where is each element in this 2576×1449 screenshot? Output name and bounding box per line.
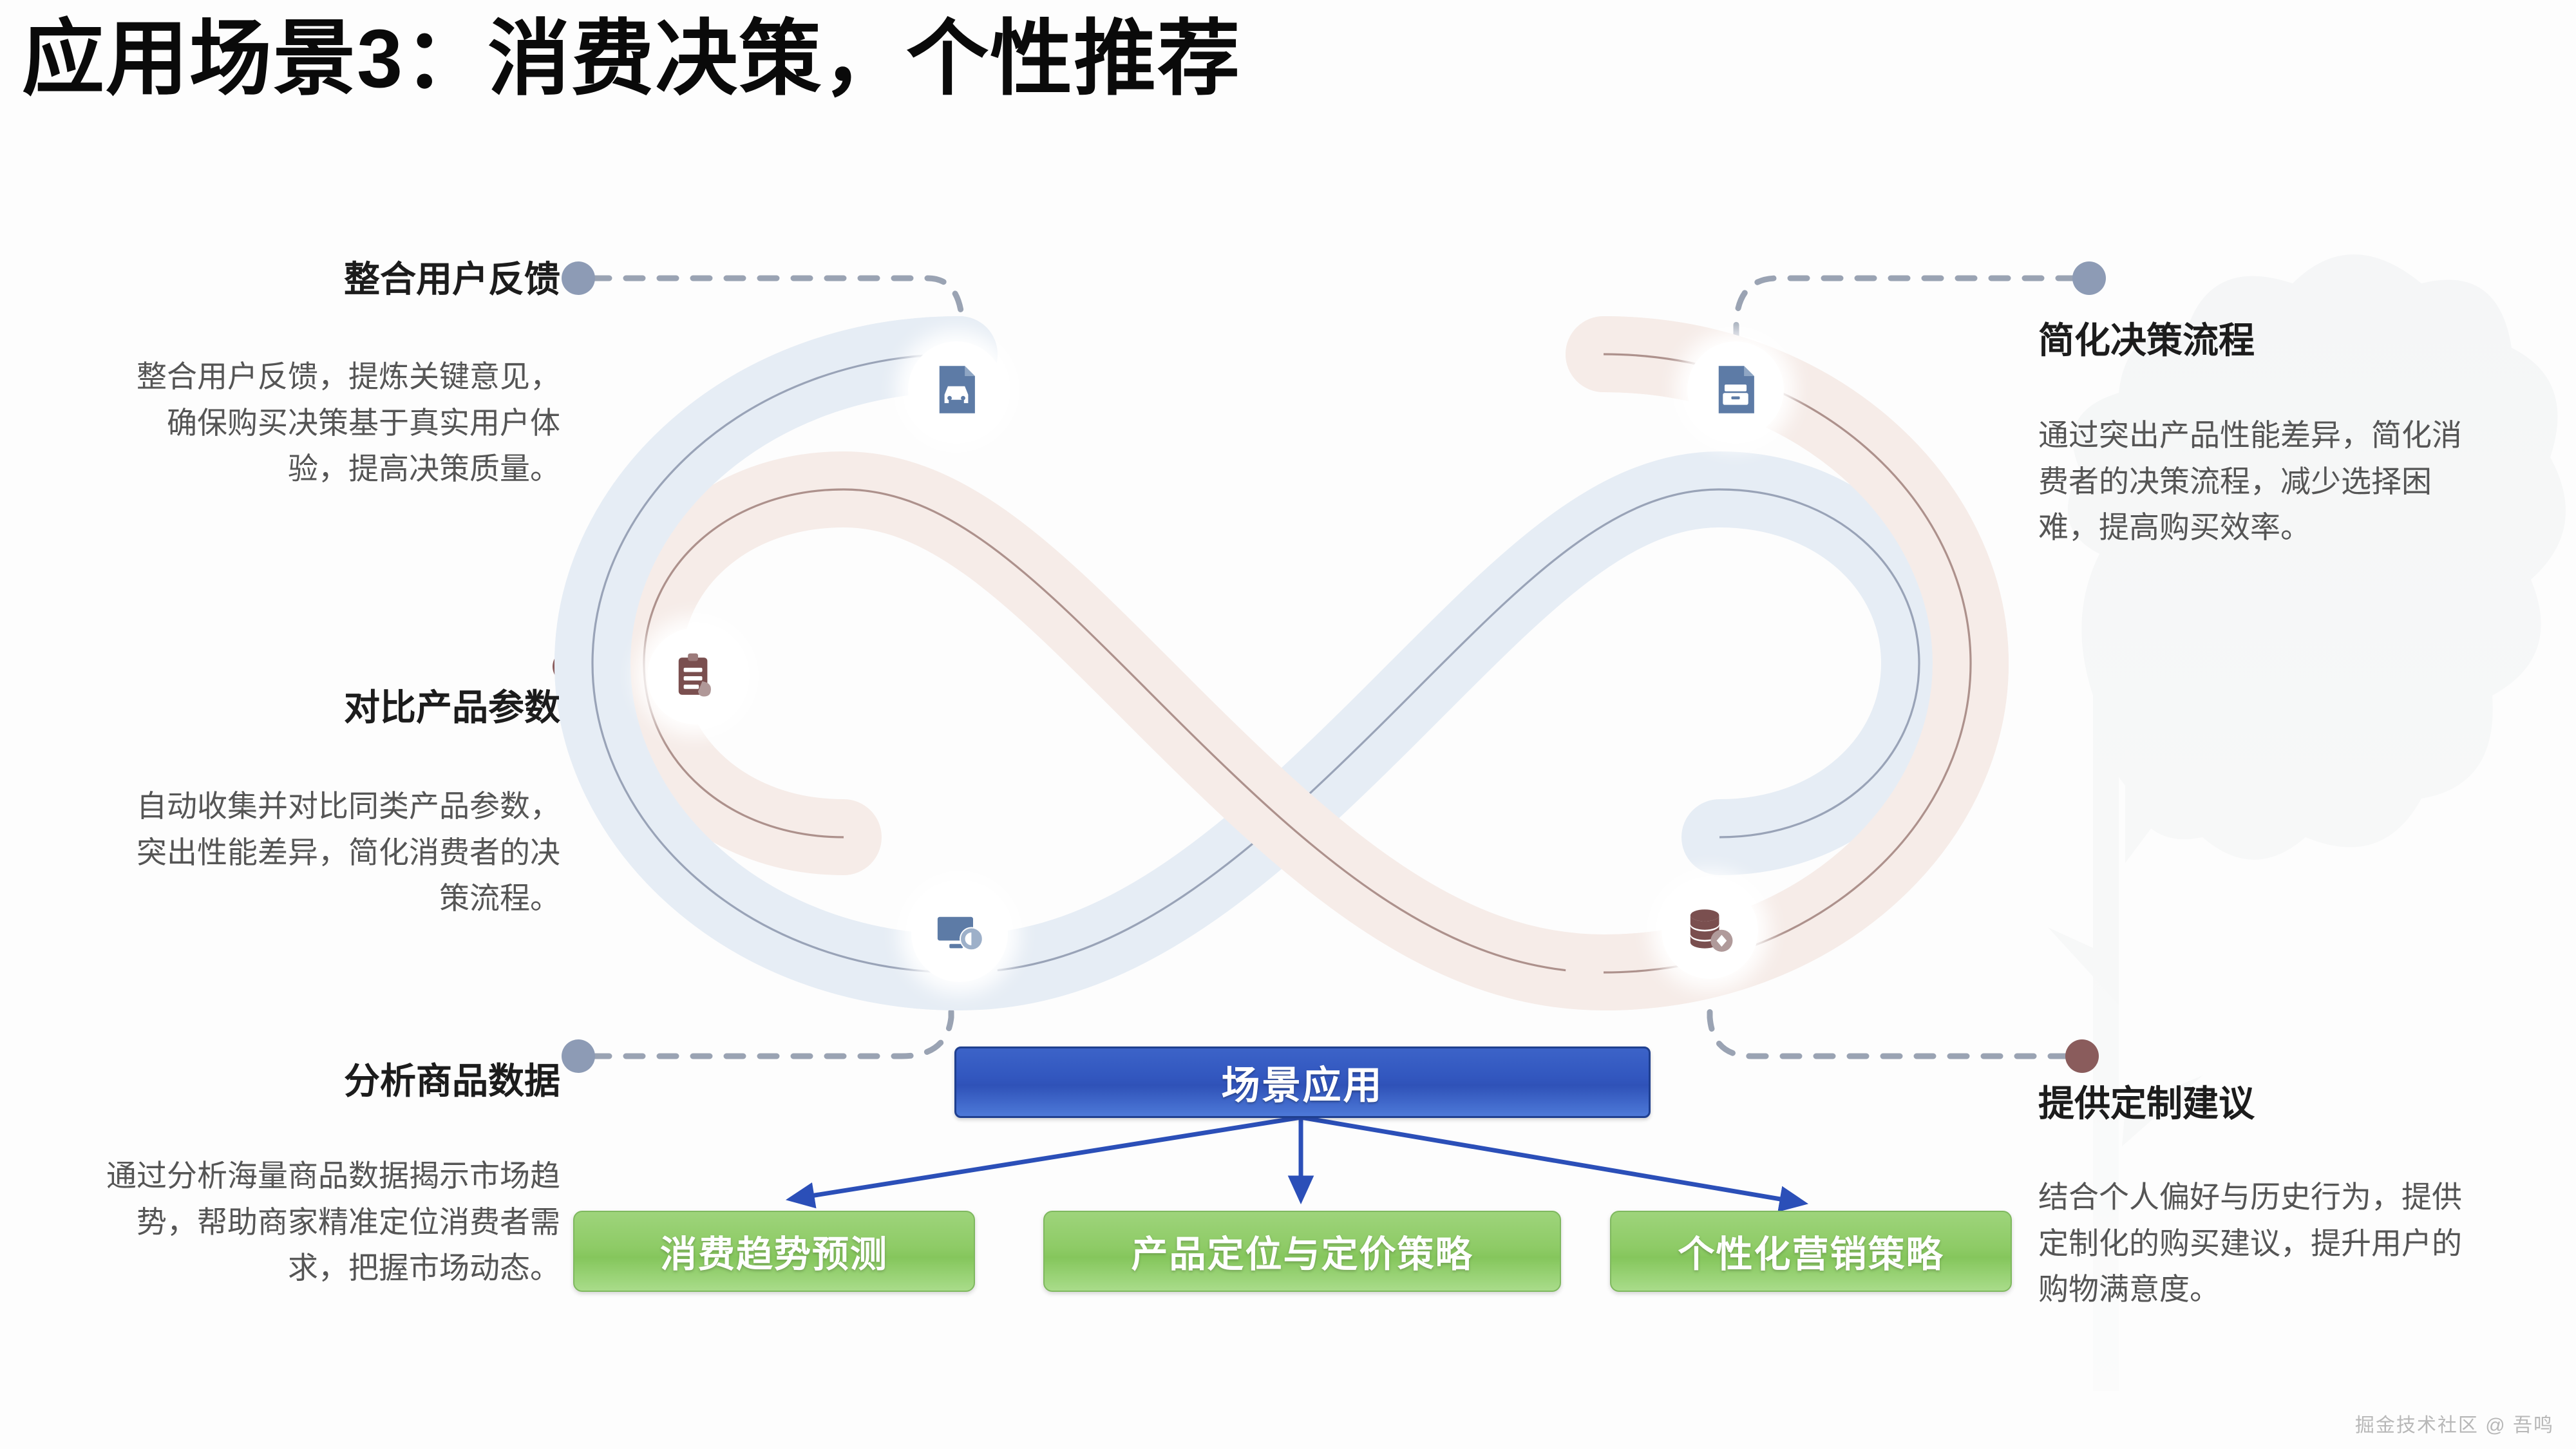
watermark-text: 掘金技术社区 @ 吾鸣 (2355, 1409, 2554, 1437)
info-heading-compare: 对比产品参数 (109, 686, 560, 729)
flow-box-label: 个性化营销策略 (1678, 1225, 1944, 1278)
scenario-root-label: 场景应用 (1222, 1054, 1384, 1110)
scenario-root-box[interactable]: 场景应用 (954, 1046, 1651, 1118)
flow-box-product-pricing[interactable]: 产品定位与定价策略 (1043, 1211, 1561, 1292)
car-document-icon-badge[interactable] (908, 341, 1005, 438)
ribbon-pink (644, 354, 1971, 972)
connector-dot-simplify (2072, 261, 2106, 295)
archive-document-icon-badge[interactable] (1687, 341, 1784, 438)
page-title: 应用场景3：消费决策，个性推荐 (22, 8, 1241, 111)
monitor-chart-icon (933, 907, 987, 961)
info-heading-simplify: 简化决策流程 (2038, 319, 2463, 362)
info-block-feedback: 整合用户反馈 整合用户反馈，提炼关键意见，确保购买决策基于真实用户体验，提高决策… (109, 258, 560, 492)
archive-document-icon (1709, 363, 1763, 417)
info-block-advice: 提供定制建议 结合个人偏好与历史行为，提供定制化的购买建议，提升用户的购物满意度… (2038, 1082, 2463, 1312)
info-block-analyze: 分析商品数据 通过分析海量商品数据揭示市场趋势，帮助商家精准定位消费者需求，把握… (97, 1059, 560, 1291)
info-block-compare: 对比产品参数 自动收集并对比同类产品参数，突出性能差异，简化消费者的决策流程。 (109, 686, 560, 922)
clipboard-list-icon-badge[interactable] (647, 628, 744, 724)
ribbon-blue (592, 354, 1919, 972)
flow-box-trend-forecast[interactable]: 消费趋势预测 (573, 1211, 975, 1292)
info-heading-feedback: 整合用户反馈 (109, 258, 560, 301)
database-stack-icon (1683, 904, 1737, 958)
database-stack-icon-badge[interactable] (1662, 882, 1758, 979)
monitor-chart-icon-badge[interactable] (911, 885, 1008, 982)
info-block-simplify: 简化决策流程 通过突出产品性能差异，简化消费者的决策流程，减少选择困难，提高购买… (2038, 319, 2463, 551)
infinity-loop-diagram (554, 258, 2009, 1069)
info-body-analyze: 通过分析海量商品数据揭示市场趋势，帮助商家精准定位消费者需求，把握市场动态。 (97, 1153, 560, 1291)
car-document-icon (929, 363, 983, 417)
connector-dot-advice (2065, 1039, 2099, 1073)
flow-box-personalized-marketing[interactable]: 个性化营销策略 (1610, 1211, 2012, 1292)
info-body-compare: 自动收集并对比同类产品参数，突出性能差异，简化消费者的决策流程。 (109, 783, 560, 921)
info-body-simplify: 通过突出产品性能差异，简化消费者的决策流程，减少选择困难，提高购买效率。 (2038, 412, 2463, 550)
flow-box-label: 产品定位与定价策略 (1132, 1225, 1473, 1278)
info-heading-analyze: 分析商品数据 (97, 1059, 560, 1103)
info-heading-advice: 提供定制建议 (2038, 1082, 2463, 1125)
info-body-advice: 结合个人偏好与历史行为，提供定制化的购买建议，提升用户的购物满意度。 (2038, 1174, 2463, 1312)
clipboard-list-icon (668, 649, 723, 703)
info-body-feedback: 整合用户反馈，提炼关键意见，确保购买决策基于真实用户体验，提高决策质量。 (109, 354, 560, 491)
flow-box-label: 消费趋势预测 (660, 1225, 888, 1278)
